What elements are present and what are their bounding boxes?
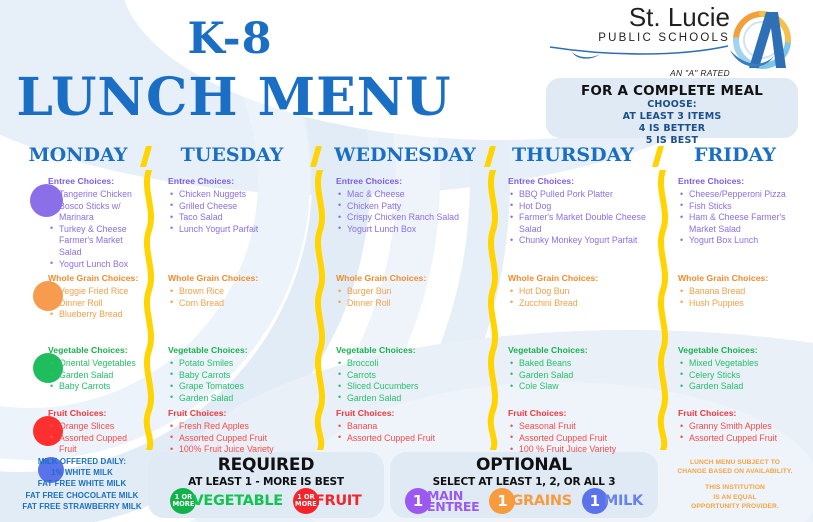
- menu-item-list-entree: Cheese/Pepperoni PizzaFish SticksHam & C…: [678, 189, 810, 247]
- menu-item: Grilled Cheese: [168, 201, 306, 213]
- badge-fruit[interactable]: 1 OR MORE FRUIT: [293, 488, 362, 514]
- menu-item-list-vegetable: BroccoliCarrotsSliced CucumbersGarden Sa…: [336, 358, 486, 404]
- badge-label-main-entree: MAIN ENTREE: [427, 490, 479, 512]
- menu-item: Potato Smiles: [168, 358, 306, 370]
- menu-item-list-fruit: BananaAssorted Cupped Fruit: [336, 421, 486, 444]
- day-header-wednesday: WEDNESDAY: [322, 144, 488, 166]
- complete-meal-line-2: AT LEAST 3 ITEMS: [546, 111, 798, 123]
- day-divider-slash: [652, 146, 664, 167]
- menu-item: Celery Sticks: [678, 370, 810, 382]
- complete-meal-box: FOR A COMPLETE MEAL CHOOSE: AT LEAST 3 I…: [546, 78, 798, 138]
- menu-item: Fish Sticks: [678, 201, 810, 213]
- menu-item: 100 % Fruit Juice Variety: [508, 444, 653, 456]
- menu-item-list-entree: Mac & CheeseChicken PattyCrispy Chicken …: [336, 189, 486, 235]
- menu-section-grain-friday: Whole Grain Choices:Banana BreadHush Pup…: [678, 273, 810, 309]
- complete-meal-line-1: CHOOSE:: [546, 99, 798, 111]
- menu-item: Yogurt Box Lunch: [678, 235, 810, 247]
- section-heading-fruit: Fruit Choices:: [48, 408, 144, 418]
- menu-item: Garden Salad: [678, 381, 810, 393]
- menu-item: Hot Dog Bun: [508, 286, 653, 298]
- menu-item: Cheese/Pepperoni Pizza: [678, 189, 810, 201]
- menu-item: Ham & Cheese Farmer's: [678, 212, 810, 224]
- menu-section-grain-wednesday: Whole Grain Choices:Burger BunDinner Rol…: [336, 273, 486, 309]
- milk-line-1: MILK OFFERED DAILY:: [6, 456, 158, 467]
- optional-subtitle: SELECT AT LEAST 1, 2, OR ALL 3: [390, 476, 658, 488]
- menu-section-entree-tuesday: Entree Choices:Chicken NuggetsGrilled Ch…: [168, 176, 306, 235]
- day-header-friday: FRIDAY: [665, 144, 805, 166]
- menu-item-list-fruit: Seasonal FruitAssorted Cupped Fruit100 %…: [508, 421, 653, 456]
- menu-item: Burger Bun: [336, 286, 486, 298]
- required-panel: REQUIRED AT LEAST 1 - MORE IS BEST 1 OR …: [148, 452, 384, 518]
- badge-grains[interactable]: 1 GRAINS: [489, 488, 571, 514]
- menu-item: Garden Salad: [48, 370, 144, 382]
- menu-item: Salad: [508, 224, 653, 236]
- menu-item: Hot Dog: [508, 201, 653, 213]
- menu-item-list-vegetable: Mixed VegetablesCelery SticksGarden Sala…: [678, 358, 810, 393]
- menu-item: Blueberry Bread: [48, 309, 144, 321]
- milk-line-5: FAT FREE STRAWBERRY MILK: [6, 501, 158, 512]
- section-heading-vegetable: Vegetable Choices:: [168, 345, 306, 355]
- menu-item: Bosco Sticks w/ Marinara: [48, 201, 144, 224]
- menu-item: Granny Smith Apples: [678, 421, 810, 433]
- menu-item: Farmer's Market Salad: [48, 235, 144, 258]
- menu-item: Assorted Cupped Fruit: [336, 433, 486, 445]
- district-logo: St. Lucie PUBLIC SCHOOLS AN "A" RATED DE…: [548, 4, 798, 76]
- day-header-row: MONDAY TUESDAY WEDNESDAY THURSDAY FRIDAY: [0, 144, 813, 170]
- menu-item: Assorted Cupped Fruit: [168, 433, 306, 445]
- menu-item: Assorted Cupped Fruit: [678, 433, 810, 445]
- menu-section-fruit-monday: Fruit Choices:Orange SlicesAssorted Cupp…: [48, 408, 144, 456]
- lunch-menu-poster: K-8 LUNCH MENU St. Lucie PUBLIC SCHOOLS …: [0, 0, 813, 522]
- menu-item: Seasonal Fruit: [508, 421, 653, 433]
- column-divider-wave: [484, 170, 500, 450]
- menu-item: Baked Beans: [508, 358, 653, 370]
- menu-item: Turkey & Cheese: [48, 224, 144, 236]
- menu-section-fruit-wednesday: Fruit Choices:BananaAssorted Cupped Frui…: [336, 408, 486, 444]
- disclaimer-line-2: CHANGE BASED ON AVAILABILITY.: [662, 467, 808, 476]
- day-header-tuesday: TUESDAY: [158, 144, 306, 166]
- menu-item-list-vegetable: Potato SmilesBaby CarrotsGrape TomatoesG…: [168, 358, 306, 404]
- section-heading-entree: Entree Choices:: [678, 176, 810, 186]
- menu-section-vegetable-thursday: Vegetable Choices:Baked BeansGarden Sala…: [508, 345, 653, 393]
- menu-section-entree-friday: Entree Choices:Cheese/Pepperoni PizzaFis…: [678, 176, 810, 247]
- menu-item-list-entree: BBQ Pulled Pork PlatterHot DogFarmer's M…: [508, 189, 653, 247]
- badge-label-milk: MILK: [604, 495, 643, 508]
- section-heading-grain: Whole Grain Choices:: [336, 273, 486, 283]
- required-subtitle: AT LEAST 1 - MORE IS BEST: [148, 476, 384, 488]
- menu-section-grain-monday: Whole Grain Choices:Veggie Fried RiceDin…: [48, 273, 144, 321]
- menu-section-grain-thursday: Whole Grain Choices:Hot Dog BunZucchini …: [508, 273, 653, 309]
- disclaimer-line-5: OPPORTUNITY PROVIDER.: [662, 502, 808, 511]
- menu-item: Broccoli: [336, 358, 486, 370]
- section-heading-grain: Whole Grain Choices:: [168, 273, 306, 283]
- menu-item: Chicken Nuggets: [168, 189, 306, 201]
- menu-item: Grape Tomatoes: [168, 381, 306, 393]
- menu-section-grain-tuesday: Whole Grain Choices:Brown RiceCorn Bread: [168, 273, 306, 309]
- section-heading-fruit: Fruit Choices:: [508, 408, 653, 418]
- milk-line-2: 1% WHITE MILK: [6, 467, 158, 478]
- menu-item: Corn Bread: [168, 298, 306, 310]
- menu-item: Farmer's Market Double Cheese: [508, 212, 653, 224]
- menu-item: Orange Slices: [48, 421, 144, 433]
- menu-item-list-grain: Brown RiceCorn Bread: [168, 286, 306, 309]
- menu-item-list-fruit: Granny Smith ApplesAssorted Cupped Fruit: [678, 421, 810, 444]
- optional-panel: OPTIONAL SELECT AT LEAST 1, 2, OR ALL 3 …: [390, 452, 658, 518]
- menu-section-fruit-tuesday: Fruit Choices:Fresh Red ApplesAssorted C…: [168, 408, 306, 456]
- logo-swoosh-icon: [548, 43, 730, 59]
- menu-item-list-fruit: Orange SlicesAssorted Cupped Fruit: [48, 421, 144, 456]
- menu-item: Baby Carrots: [48, 381, 144, 393]
- menu-item: Garden Salad: [508, 370, 653, 382]
- menu-item-list-vegetable: Baked BeansGarden SaladCole Slaw: [508, 358, 653, 393]
- menu-item: Dinner Roll: [336, 298, 486, 310]
- section-heading-vegetable: Vegetable Choices:: [508, 345, 653, 355]
- menu-item: Veggie Fried Rice: [48, 286, 144, 298]
- menu-item-list-grain: Veggie Fried RiceDinner RollBlueberry Br…: [48, 286, 144, 321]
- section-heading-entree: Entree Choices:: [168, 176, 306, 186]
- section-heading-grain: Whole Grain Choices:: [508, 273, 653, 283]
- logo-a-mark-icon: [726, 6, 798, 74]
- menu-item: Baby Carrots: [168, 370, 306, 382]
- menu-item: Brown Rice: [168, 286, 306, 298]
- complete-meal-title: FOR A COMPLETE MEAL: [546, 83, 798, 99]
- menu-item: Taco Salad: [168, 212, 306, 224]
- menu-item: Chicken Patty: [336, 201, 486, 213]
- disclaimer-block: LUNCH MENU SUBJECT TO CHANGE BASED ON AV…: [662, 458, 808, 511]
- badge-label-vegetable: VEGETABLE: [192, 495, 282, 508]
- menu-section-fruit-thursday: Fruit Choices:Seasonal FruitAssorted Cup…: [508, 408, 653, 456]
- section-heading-fruit: Fruit Choices:: [336, 408, 486, 418]
- menu-section-vegetable-wednesday: Vegetable Choices:BroccoliCarrotsSliced …: [336, 345, 486, 404]
- menu-section-vegetable-friday: Vegetable Choices:Mixed VegetablesCelery…: [678, 345, 810, 393]
- disclaimer-line-3: THIS INSTITUTION: [662, 483, 808, 492]
- milk-line-3: FAT FREE WHITE MILK: [6, 478, 158, 489]
- menu-item: Fresh Red Apples: [168, 421, 306, 433]
- menu-item: Hush Puppies: [678, 298, 810, 310]
- menu-item-list-grain: Banana BreadHush Puppies: [678, 286, 810, 309]
- menu-item: Sliced Cucumbers: [336, 381, 486, 393]
- section-heading-grain: Whole Grain Choices:: [48, 273, 144, 283]
- menu-item: Dinner Roll: [48, 298, 144, 310]
- menu-item: Carrots: [336, 370, 486, 382]
- menu-item-list-vegetable: Oriental VegetablesGarden SaladBaby Carr…: [48, 358, 144, 393]
- menu-item: Yogurt Lunch Box: [336, 224, 486, 236]
- menu-item: Banana: [336, 421, 486, 433]
- menu-item-list-entree: Chicken NuggetsGrilled CheeseTaco SaladL…: [168, 189, 306, 235]
- menu-item: Oriental Vegetables: [48, 358, 144, 370]
- section-heading-entree: Entree Choices:: [336, 176, 486, 186]
- menu-item-list-grain: Hot Dog BunZucchini Bread: [508, 286, 653, 309]
- menu-section-fruit-friday: Fruit Choices:Granny Smith ApplesAssorte…: [678, 408, 810, 444]
- menu-item: Garden Salad: [168, 393, 306, 405]
- disclaimer-line-1: LUNCH MENU SUBJECT TO: [662, 458, 808, 467]
- menu-item: Market Salad: [678, 224, 810, 236]
- badge-label-grains: GRAINS: [511, 495, 571, 508]
- menu-item: Mac & Cheese: [336, 189, 486, 201]
- menu-section-entree-monday: Entree Choices:Tangerine ChickenBosco St…: [48, 176, 144, 270]
- menu-item-list-entree: Tangerine ChickenBosco Sticks w/ Marinar…: [48, 189, 144, 270]
- required-badges: 1 OR MORE VEGETABLE 1 OR MORE FRUIT: [148, 488, 384, 514]
- menu-item: Assorted Cupped Fruit: [48, 433, 144, 456]
- badge-label-fruit: FRUIT: [315, 495, 362, 508]
- logo-district-name: St. Lucie: [548, 4, 730, 31]
- menu-item: Mixed Vegetables: [678, 358, 810, 370]
- menu-item: Crispy Chicken Ranch Salad: [336, 212, 486, 224]
- menu-item: Chunky Monkey Yogurt Parfait: [508, 235, 653, 247]
- badge-milk[interactable]: 1 MILK: [582, 488, 643, 514]
- grade-band-title: K-8: [0, 14, 460, 64]
- optional-title: OPTIONAL: [390, 455, 658, 475]
- section-heading-vegetable: Vegetable Choices:: [48, 345, 144, 355]
- section-heading-vegetable: Vegetable Choices:: [678, 345, 810, 355]
- milk-line-4: FAT FREE CHOCOLATE MILK: [6, 490, 158, 501]
- day-header-monday: MONDAY: [4, 144, 152, 166]
- page-title: LUNCH MENU: [8, 72, 460, 124]
- menu-item-list-fruit: Fresh Red ApplesAssorted Cupped Fruit100…: [168, 421, 306, 456]
- menu-section-entree-wednesday: Entree Choices:Mac & CheeseChicken Patty…: [336, 176, 486, 235]
- menu-item: Assorted Cupped Fruit: [508, 433, 653, 445]
- section-heading-entree: Entree Choices:: [508, 176, 653, 186]
- disclaimer-line-4: IS AN EQUAL: [662, 493, 808, 502]
- badge-vegetable[interactable]: 1 OR MORE VEGETABLE: [170, 488, 282, 514]
- milk-offered-block: MILK OFFERED DAILY: 1% WHITE MILK FAT FR…: [6, 456, 158, 512]
- badge-main-entree[interactable]: 1 MAIN ENTREE: [405, 488, 479, 514]
- menu-item: 100% Fruit Juice Variety: [168, 444, 306, 456]
- menu-item: Tangerine Chicken: [48, 189, 144, 201]
- column-divider-wave: [654, 170, 670, 450]
- menu-item-list-grain: Burger BunDinner Roll: [336, 286, 486, 309]
- menu-item: Banana Bread: [678, 286, 810, 298]
- optional-badges: 1 MAIN ENTREE 1 GRAINS 1 MILK: [390, 488, 658, 514]
- menu-item: Lunch Yogurt Parfait: [168, 224, 306, 236]
- section-heading-entree: Entree Choices:: [48, 176, 144, 186]
- menu-section-vegetable-tuesday: Vegetable Choices:Potato SmilesBaby Carr…: [168, 345, 306, 404]
- section-heading-vegetable: Vegetable Choices:: [336, 345, 486, 355]
- menu-item: Garden Salad: [336, 393, 486, 405]
- menu-item: Yogurt Lunch Box: [48, 259, 144, 271]
- complete-meal-line-3: 4 IS BETTER: [546, 123, 798, 135]
- menu-item: BBQ Pulled Pork Platter: [508, 189, 653, 201]
- required-title: REQUIRED: [148, 455, 384, 475]
- column-divider-wave: [311, 170, 327, 450]
- menu-section-vegetable-monday: Vegetable Choices:Oriental VegetablesGar…: [48, 345, 144, 393]
- menu-item: Cole Slaw: [508, 381, 653, 393]
- menu-section-entree-thursday: Entree Choices:BBQ Pulled Pork PlatterHo…: [508, 176, 653, 247]
- section-heading-fruit: Fruit Choices:: [678, 408, 810, 418]
- menu-item: Zucchini Bread: [508, 298, 653, 310]
- section-heading-grain: Whole Grain Choices:: [678, 273, 810, 283]
- section-heading-fruit: Fruit Choices:: [168, 408, 306, 418]
- day-divider-slash: [310, 146, 322, 167]
- day-header-thursday: THURSDAY: [497, 144, 649, 166]
